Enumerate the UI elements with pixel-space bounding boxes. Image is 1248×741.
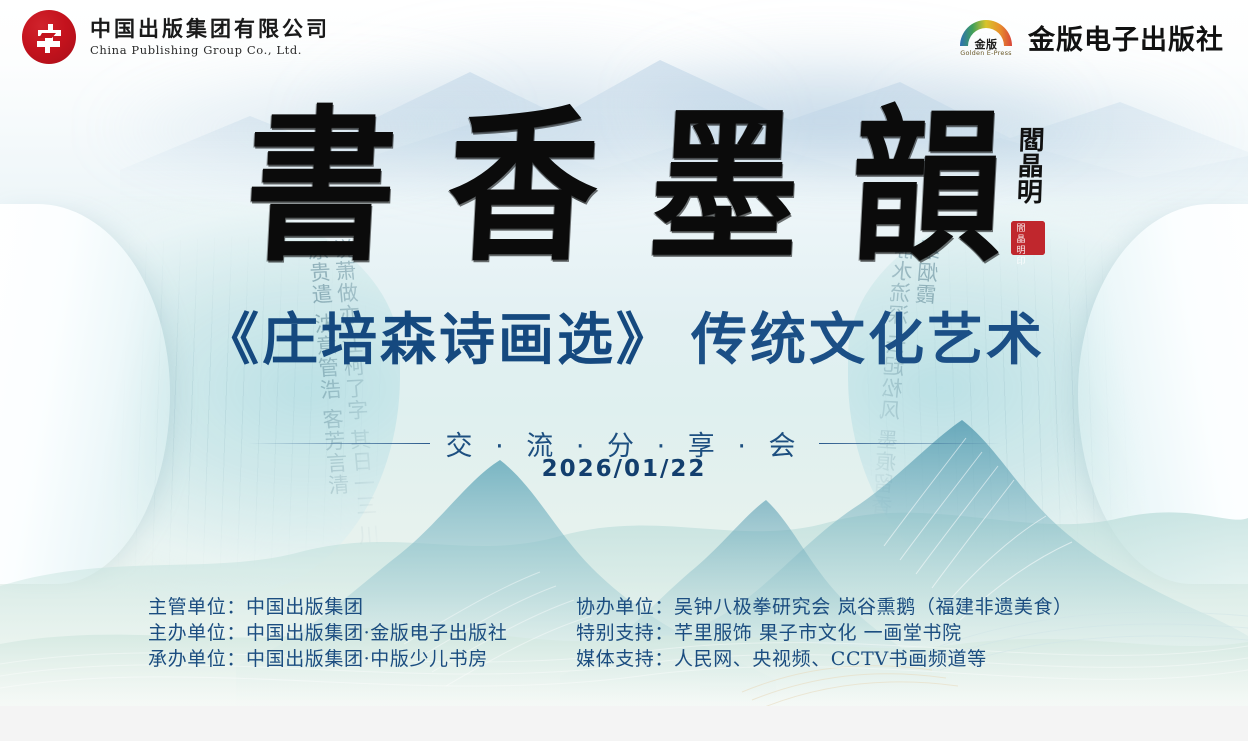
artist-signature: 閻晶明 閻晶明印 [998,126,1058,255]
credit-line: 媒体支持：人民网、央视频、CCTV书画频道等 [576,646,1073,672]
credit-line: 主办单位：中国出版集团·金版电子出版社 [148,620,568,646]
china-publishing-group-logo-icon [22,10,76,64]
seal-text: 閻晶明印 [1014,224,1042,252]
poster-canvas: 说萧做亦 江柯了字 其日一三 川原贵遣 沈意管浩 客芳言清 静水流深 云起松风 … [0,0,1248,706]
signature-text: 閻晶明 [1009,126,1046,204]
ge-badge-en: Golden E-Press [955,49,1017,57]
subtitle-book-title: 《庄培森诗画选》 [203,307,675,373]
ge-name-cn: 金版电子出版社 [1028,18,1224,57]
calligraphy-title-text: 書香墨韻 [190,105,1059,270]
cpg-name-en: China Publishing Group Co., Ltd. [90,44,330,56]
red-seal-icon: 閻晶明印 [1011,221,1045,255]
credits-column-left: 主管单位：中国出版集团 主办单位：中国出版集团·金版电子出版社 承办单位：中国出… [148,594,568,672]
cpg-name-cn: 中国出版集团有限公司 [90,18,330,40]
china-publishing-group-logo[interactable]: 中国出版集团有限公司 China Publishing Group Co., L… [22,10,330,64]
book-glyphs-right: 静水流深 云起松风 墨痕留香 一纸烟霞 [866,238,1164,571]
credit-line: 承办单位：中国出版集团·中版少儿书房 [148,646,568,672]
rule-right-decor [819,443,1001,444]
golden-e-press-logo[interactable]: 金版 Golden E-Press 金版电子出版社 [955,12,1224,62]
subtitle-topic: 传统文化艺术 [691,307,1045,373]
poster-screen: 说萧做亦 江柯了字 其日一三 川原贵遣 沈意管浩 客芳言清 静水流深 云起松风 … [0,0,1248,741]
poster-subtitle: 《庄培森诗画选》传统文化艺术 [0,312,1248,368]
credit-line: 主管单位：中国出版集团 [148,594,568,620]
page-bottom-strip [0,706,1248,741]
credit-line: 特别支持：芊里服饰 果子市文化 一画堂书院 [576,620,1073,646]
golden-e-press-rainbow-arch-icon: 金版 Golden E-Press [955,12,1017,62]
credit-line: 协办单位：吴钟八极拳研究会 岚谷熏鹅（福建非遗美食） [576,594,1073,620]
rule-left-decor [248,443,430,444]
event-date: 2026/01/22 [0,456,1248,482]
book-glyphs-left: 说萧做亦 江柯了字 其日一三 川原贵遣 沈意管浩 客芳言清 [84,238,382,571]
credits-column-right: 协办单位：吴钟八极拳研究会 岚谷熏鹅（福建非遗美食） 特别支持：芊里服饰 果子市… [576,594,1073,672]
poster-title: 書香墨韻 [0,112,1248,262]
header-logo-row: 中国出版集团有限公司 China Publishing Group Co., L… [0,0,1248,76]
credits-block: 主管单位：中国出版集团 主办单位：中国出版集团·金版电子出版社 承办单位：中国出… [0,594,1248,672]
